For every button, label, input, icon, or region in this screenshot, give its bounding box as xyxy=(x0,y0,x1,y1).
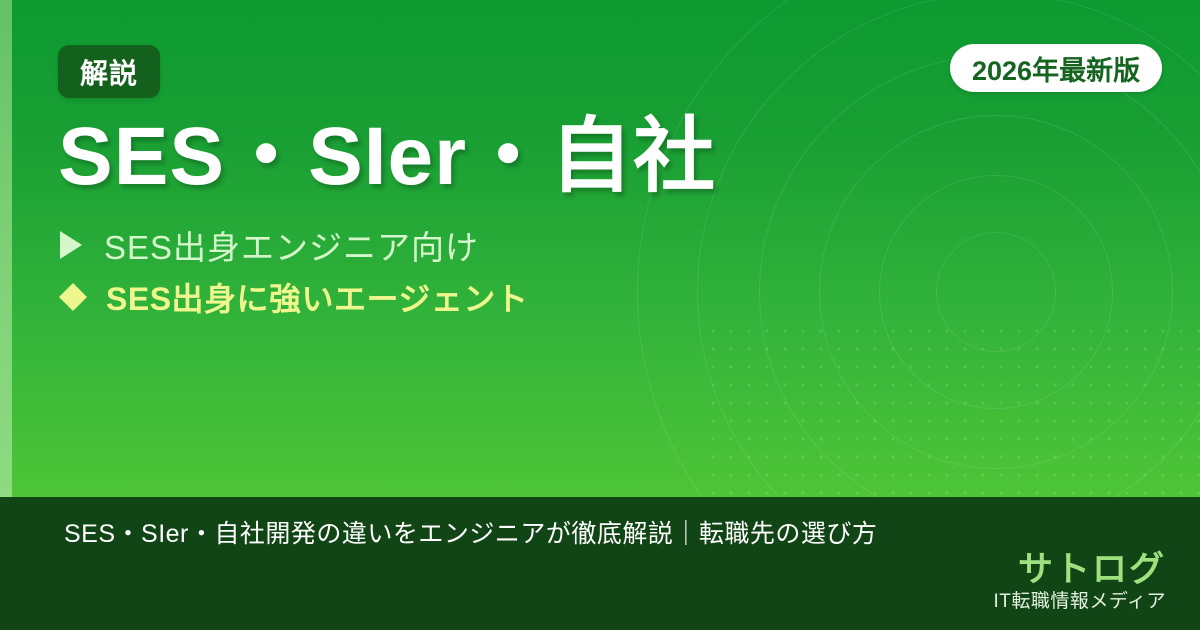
left-accent-bar xyxy=(0,0,12,497)
list-item: SES出身エンジニア向け xyxy=(58,222,528,268)
highlight-list: SES出身エンジニア向け SES出身に強いエージェント xyxy=(58,222,528,320)
list-item-label: SES出身エンジニア向け xyxy=(104,221,479,269)
diamond-icon xyxy=(58,282,88,312)
list-item: SES出身に強いエージェント xyxy=(58,274,528,320)
year-badge: 2026年最新版 xyxy=(950,44,1162,92)
ogp-card: 解説 2026年最新版 SES・SIer・自社 SES出身エンジニア向け SES… xyxy=(0,0,1200,630)
brand-tagline: IT転職情報メディア xyxy=(993,591,1166,614)
category-badge: 解説 xyxy=(58,45,160,98)
list-item-label: SES出身に強いエージェント xyxy=(106,274,528,320)
brand-name: サトログ xyxy=(993,552,1166,589)
triangle-right-icon xyxy=(58,229,84,261)
brand-block: サトログ IT転職情報メディア xyxy=(993,552,1166,614)
footer-headline: SES・SIer・自社開発の違いをエンジニアが徹底解説｜転職先の選び方 xyxy=(64,514,877,550)
page-title: SES・SIer・自社 xyxy=(58,113,716,202)
